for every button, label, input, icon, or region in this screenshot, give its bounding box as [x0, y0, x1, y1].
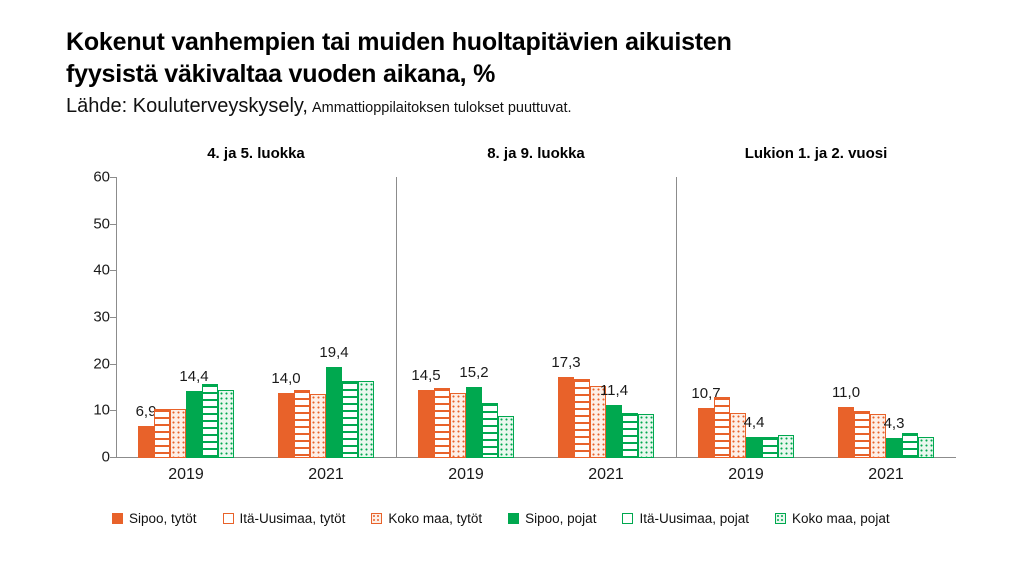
bar: [218, 390, 234, 458]
bar-value-label: 15,2: [459, 364, 488, 381]
legend-swatch-icon: [223, 513, 234, 524]
bar-value-label: 4,4: [744, 414, 765, 431]
source-line: Lähde: Kouluterveyskysely,Ammattioppilai…: [66, 95, 966, 118]
page-title: Kokenut vanhempien tai muiden huoltapitä…: [66, 26, 966, 91]
x-axis-category-label: 2021: [308, 466, 344, 484]
x-axis-category-label: 2021: [868, 466, 904, 484]
bar: [278, 393, 294, 458]
legend-item-label: Itä-Uusimaa, tytöt: [240, 511, 346, 526]
bar-value-label: 14,0: [271, 370, 300, 387]
y-axis-tick-label: 0: [102, 449, 110, 466]
source-label: Lähde: Kouluterveyskysely,: [66, 95, 308, 117]
bar: [638, 414, 654, 458]
bar: [326, 367, 342, 458]
bar: [778, 435, 794, 458]
bar-value-label: 14,4: [179, 368, 208, 385]
bar-value-label: 4,3: [884, 415, 905, 432]
bar: [558, 377, 574, 458]
y-axis-tick-label: 20: [93, 355, 110, 372]
legend-item-label: Sipoo, tytöt: [129, 511, 197, 526]
bar: [466, 387, 482, 458]
bar: [418, 390, 434, 458]
panel-title: Lukion 1. ja 2. vuosi: [745, 145, 888, 162]
bar: [482, 403, 498, 458]
legend-item[interactable]: Koko maa, tytöt: [371, 511, 482, 526]
legend-item-label: Koko maa, pojat: [792, 511, 890, 526]
legend-swatch-icon: [775, 513, 786, 524]
y-axis-tick-label: 40: [93, 262, 110, 279]
legend-item[interactable]: Itä-Uusimaa, tytöt: [223, 511, 346, 526]
bar: [294, 390, 310, 458]
y-axis-tick-label: 50: [93, 215, 110, 232]
bar: [902, 433, 918, 458]
bars-layer: 6,914,414,019,414,515,217,311,410,74,411…: [116, 168, 956, 458]
panel-title: 8. ja 9. luokka: [487, 145, 585, 162]
bar: [886, 438, 902, 458]
y-axis-labels: 0102030405060: [66, 168, 110, 468]
legend-swatch-icon: [508, 513, 519, 524]
x-axis-category-label: 2019: [448, 466, 484, 484]
bar-value-label: 19,4: [319, 344, 348, 361]
bar: [746, 437, 762, 458]
bar: [606, 405, 622, 458]
bar: [838, 407, 854, 458]
legend-item[interactable]: Sipoo, pojat: [508, 511, 596, 526]
bar: [170, 409, 186, 458]
legend-swatch-icon: [371, 513, 382, 524]
chart-legend: Sipoo, tytötItä-Uusimaa, tytötKoko maa, …: [112, 511, 916, 526]
bar: [138, 426, 154, 458]
bar: [154, 409, 170, 458]
bar: [622, 413, 638, 458]
bar: [434, 388, 450, 458]
bar: [186, 391, 202, 458]
x-axis-category-label: 2021: [588, 466, 624, 484]
bar: [498, 416, 514, 458]
bar: [342, 381, 358, 458]
source-note: Ammattioppilaitoksen tulokset puuttuvat.: [312, 100, 572, 116]
chart-header: Kokenut vanhempien tai muiden huoltapitä…: [66, 26, 966, 118]
bar: [854, 411, 870, 458]
legend-item[interactable]: Sipoo, tytöt: [112, 511, 197, 526]
chart-plot-area: 0102030405060 4. ja 5. luokka8. ja 9. lu…: [66, 168, 956, 468]
legend-swatch-icon: [112, 513, 123, 524]
legend-swatch-icon: [622, 513, 633, 524]
y-axis-tick-label: 30: [93, 309, 110, 326]
x-axis-category-label: 2019: [728, 466, 764, 484]
legend-item[interactable]: Koko maa, pojat: [775, 511, 890, 526]
bar: [762, 437, 778, 458]
bar-value-label: 11,4: [600, 382, 628, 399]
bar-value-label: 14,5: [411, 367, 440, 384]
legend-item-label: Koko maa, tytöt: [388, 511, 482, 526]
bar-value-label: 17,3: [551, 354, 580, 371]
x-axis-category-label: 2019: [168, 466, 204, 484]
bar: [202, 384, 218, 458]
y-axis-tick-label: 60: [93, 169, 110, 186]
bar: [450, 393, 466, 458]
bar: [918, 437, 934, 458]
legend-item-label: Itä-Uusimaa, pojat: [639, 511, 749, 526]
bar-value-label: 11,0: [832, 384, 860, 401]
panel-title: 4. ja 5. luokka: [207, 145, 305, 162]
bar: [358, 381, 374, 458]
axis-area: 4. ja 5. luokka8. ja 9. luokkaLukion 1. …: [116, 168, 956, 468]
legend-item[interactable]: Itä-Uusimaa, pojat: [622, 511, 749, 526]
bar: [698, 408, 714, 458]
bar: [714, 397, 730, 458]
legend-item-label: Sipoo, pojat: [525, 511, 596, 526]
bar: [310, 394, 326, 458]
bar: [574, 379, 590, 458]
y-axis-tick-label: 10: [93, 402, 110, 419]
